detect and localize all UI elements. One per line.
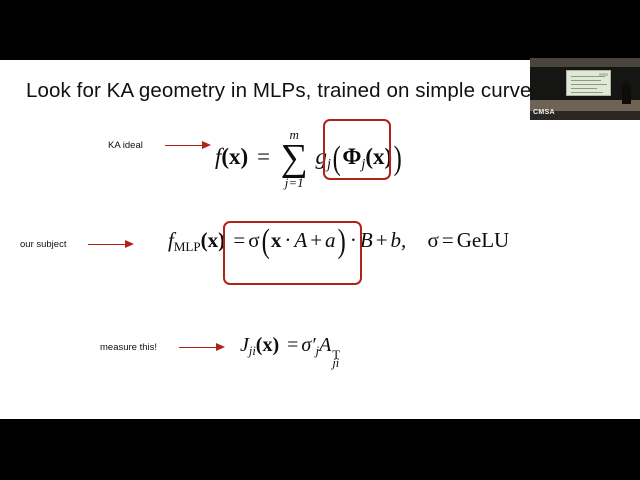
left-paren: ( [333, 147, 341, 171]
mlp-subscript: MLP [174, 239, 201, 254]
argument-x: (x) [256, 334, 279, 356]
right-arrow-icon [179, 343, 225, 353]
vector-x: x [271, 228, 282, 252]
equals-sign-2: = [439, 228, 457, 252]
annotation-label-measure-this: measure this! [100, 342, 157, 353]
right-paren: ) [394, 147, 402, 171]
argument-x: (x) [201, 228, 226, 252]
plus-operator: + [307, 228, 325, 252]
equals-sign: = [254, 144, 273, 169]
ceiling [530, 58, 640, 67]
function-g: g [316, 144, 328, 169]
cmsa-watermark: CMSA [533, 109, 555, 116]
dot-operator-2: · [347, 228, 360, 252]
sigma-symbol-2: σ [428, 228, 439, 252]
phi-symbol: Φ [342, 144, 361, 169]
annotation-label-ka-ideal: KA ideal [108, 140, 143, 151]
matrix-B: B [360, 228, 373, 252]
equals-sign: = [230, 228, 248, 252]
left-paren: ( [261, 230, 269, 254]
letterbox-bottom [0, 419, 640, 480]
matrix-A: A [294, 228, 307, 252]
equation-jacobian: Jji(x) =σ′jATji [240, 335, 347, 357]
matrix-A: A [319, 334, 331, 356]
letterbox-top [0, 0, 640, 60]
g-subscript: j [327, 156, 331, 172]
annotation-label-our-subject: our subject [20, 239, 66, 250]
summation-operator: m ∑ j=1 [281, 128, 308, 189]
bias-a: a [325, 228, 336, 252]
equation-row-ka-ideal: KA ideal [108, 140, 211, 151]
video-frame: Look for KA geometry in MLPs, trained on… [0, 0, 640, 480]
plus-operator-2: + [373, 228, 391, 252]
dot-operator: · [281, 228, 294, 252]
sigma-sum-icon: ∑ [281, 141, 308, 176]
speaker-body [622, 84, 631, 104]
sum-lower-limit: j=1 [285, 176, 304, 189]
equation-row-our-subject: our subject [20, 239, 134, 250]
J-subscript: ji [249, 344, 256, 358]
equation-ka-ideal: f(x) = m ∑ j=1 gj(Φj(x)) [215, 128, 404, 189]
bias-b: b, [391, 228, 407, 252]
phi-argument-x: (x) [365, 144, 392, 169]
argument-x: (x) [221, 144, 248, 169]
equals-sign: = [284, 334, 301, 356]
screen-badge [599, 73, 608, 76]
jacobian-J: J [240, 334, 249, 356]
right-paren: ) [337, 230, 345, 254]
projection-screen [566, 70, 611, 96]
speaker-video-thumbnail[interactable]: CMSA [530, 58, 640, 120]
page-title: Look for KA geometry in MLPs, trained on… [26, 79, 542, 103]
sigma-prime: σ′ [301, 334, 315, 356]
activation-gelu: GeLU [457, 228, 509, 252]
sigma-symbol: σ [248, 228, 259, 252]
A-subscript: ji [332, 357, 339, 369]
right-arrow-icon [165, 141, 211, 151]
right-arrow-icon [88, 240, 134, 250]
equation-row-measure-this: measure this! [100, 342, 225, 353]
equation-mlp: fMLP(x) =σ(x·A+a)·B+b, σ=GeLU [168, 230, 509, 254]
